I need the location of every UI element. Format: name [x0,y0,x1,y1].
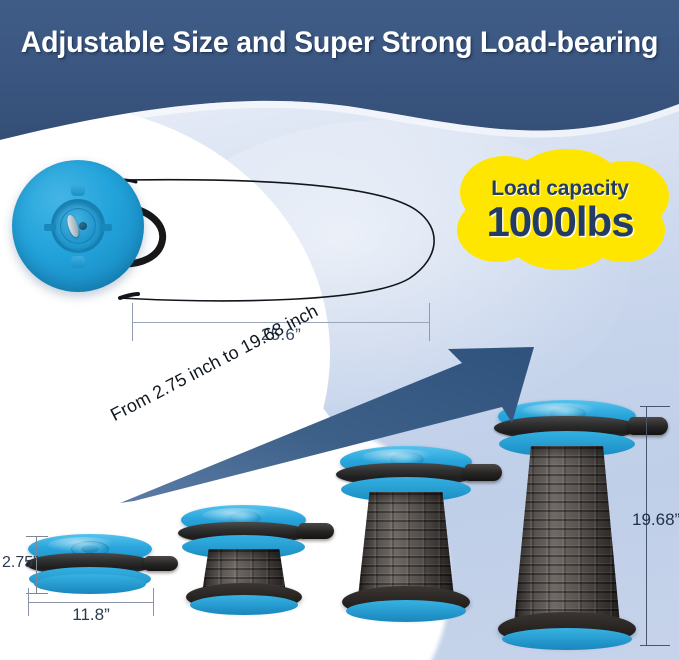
dimension-extended-height: 19.68” [636,404,679,648]
dimension-label-2-75: 2.75” [2,554,38,572]
center-pin [79,222,87,230]
seat-tab-top [71,184,85,196]
base-bottom [190,595,298,615]
telescoping-body [358,492,454,597]
load-capacity-badge: Load capacity 1000lbs [449,148,671,270]
dimension-diameter: 11.8” [28,588,154,634]
dimension-label-11-8: 11.8” [28,605,154,625]
seat-tab-bottom [71,256,85,268]
seat-highlight [202,508,272,523]
header: Adjustable Size and Super Strong Load-be… [0,0,679,150]
infographic-canvas: Adjustable Size and Super Strong Load-be… [0,0,679,660]
badge-value: 1000lbs [486,202,633,242]
folded-stool-top-view [12,160,144,292]
carry-strap-extended-outline [110,176,440,304]
page-title: Adjustable Size and Super Strong Load-be… [17,26,662,60]
dimension-tick-top [640,406,670,407]
dimension-tick-top [26,536,48,537]
badge-caption: Load capacity [491,177,628,201]
stool-low [176,505,314,615]
center-mechanism-inner [60,208,96,244]
carry-handle [298,523,334,539]
dimension-label-19-68: 19.68” [632,508,679,532]
dimension-tick-bottom [640,645,670,646]
header-band-shape [0,0,679,150]
carry-handle [144,556,178,571]
dimension-line [28,602,154,603]
base-bottom [502,628,632,650]
base-bottom [346,600,466,622]
badge-text-group: Load capacity 1000lbs [449,148,671,270]
center-mechanism-ring [51,199,105,253]
seat-highlight [48,537,118,553]
dimension-collapsed-height: 2.75” [8,534,52,596]
